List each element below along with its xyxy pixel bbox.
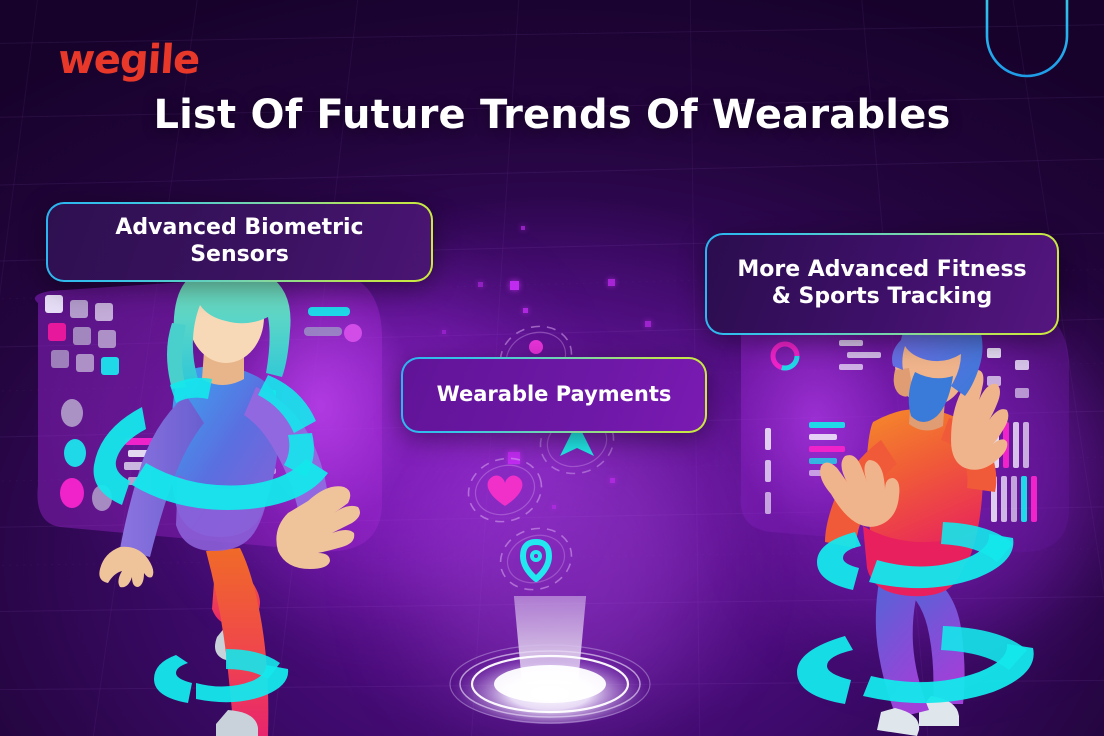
location-badge xyxy=(494,522,578,596)
trend-label-line-2: & Sports Tracking xyxy=(772,284,993,309)
hud-square-grid xyxy=(45,295,119,375)
floating-square xyxy=(521,226,525,230)
trend-label-line-1: More Advanced Fitness xyxy=(737,257,1026,282)
right-character-illustration xyxy=(735,300,1104,736)
trend-label-text: Advanced Biometric Sensors xyxy=(66,215,413,269)
glowing-portal-beam xyxy=(430,596,670,736)
floating-square xyxy=(523,308,528,313)
trend-box-advanced-biometric-sensors[interactable]: Advanced Biometric Sensors xyxy=(46,202,433,282)
floating-square xyxy=(552,505,556,509)
trend-label-text: More Advanced Fitness & Sports Tracking xyxy=(737,257,1026,311)
infographic-canvas: wegile List Of Future Trends Of Wearable… xyxy=(0,0,1104,736)
brand-logo[interactable]: wegile xyxy=(56,37,200,83)
heart-icon xyxy=(488,476,523,506)
left-character-illustration xyxy=(20,255,420,736)
trend-label: Wearable Payments xyxy=(403,359,705,431)
floating-square xyxy=(645,321,651,327)
heart-badge xyxy=(462,452,548,528)
floating-square xyxy=(608,279,615,286)
trend-box-wearable-payments[interactable]: Wearable Payments xyxy=(401,357,707,433)
floating-square xyxy=(478,282,483,287)
trend-box-fitness-sports-tracking[interactable]: More Advanced Fitness & Sports Tracking xyxy=(705,233,1059,335)
trend-label-text: Wearable Payments xyxy=(437,382,672,408)
trend-label: Advanced Biometric Sensors xyxy=(48,204,431,280)
floating-square xyxy=(510,281,519,290)
floating-square xyxy=(442,330,446,334)
trend-label: More Advanced Fitness & Sports Tracking xyxy=(707,235,1057,333)
page-title: List Of Future Trends Of Wearables xyxy=(0,92,1104,138)
